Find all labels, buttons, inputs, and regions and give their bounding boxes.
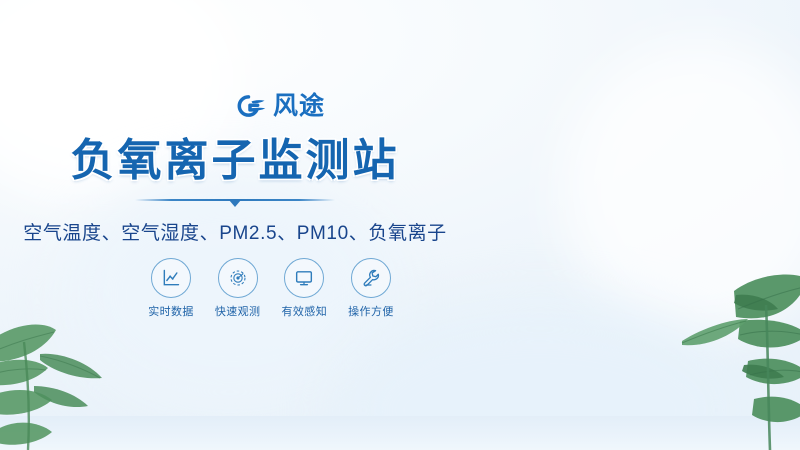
brand-logo: 风途 [233,93,325,119]
feature-label: 有效感知 [279,303,329,319]
wrench-icon [361,268,381,288]
radar-scan-icon [228,268,248,288]
tropical-leaf-left-icon [0,290,144,450]
feature-item-fast-observation: 快速观测 [213,258,263,319]
feature-icon-circle [151,258,191,298]
feature-icon-circle [218,258,258,298]
brand-name: 风途 [273,93,325,119]
title-divider [0,196,470,208]
feature-item-easy-operation: 操作方便 [346,258,396,319]
feature-icon-circle [284,258,324,298]
feature-label: 快速观测 [213,303,263,319]
hero-subtitle: 空气温度、空气湿度、PM2.5、PM10、负氧离子 [0,218,470,245]
fengtu-leaf-g-logo-icon [233,93,267,119]
feature-item-effective-sensing: 有效感知 [279,258,329,319]
feature-label: 实时数据 [146,303,196,319]
line-chart-icon [161,268,181,288]
monitor-icon [294,268,314,288]
feature-icon-circle [351,258,391,298]
feature-label: 操作方便 [346,303,396,319]
feature-list: 实时数据 快速观测 [146,258,396,319]
poster-canvas: 风途 负氧离子监测站 空气温度、空气湿度、PM2.5、PM10、负氧离子 实时数… [0,0,800,450]
feature-item-realtime-data: 实时数据 [146,258,196,319]
divider-triangle-icon [229,200,241,207]
page-title: 负氧离子监测站 [0,133,470,189]
tropical-leaf-right-icon [674,265,800,450]
